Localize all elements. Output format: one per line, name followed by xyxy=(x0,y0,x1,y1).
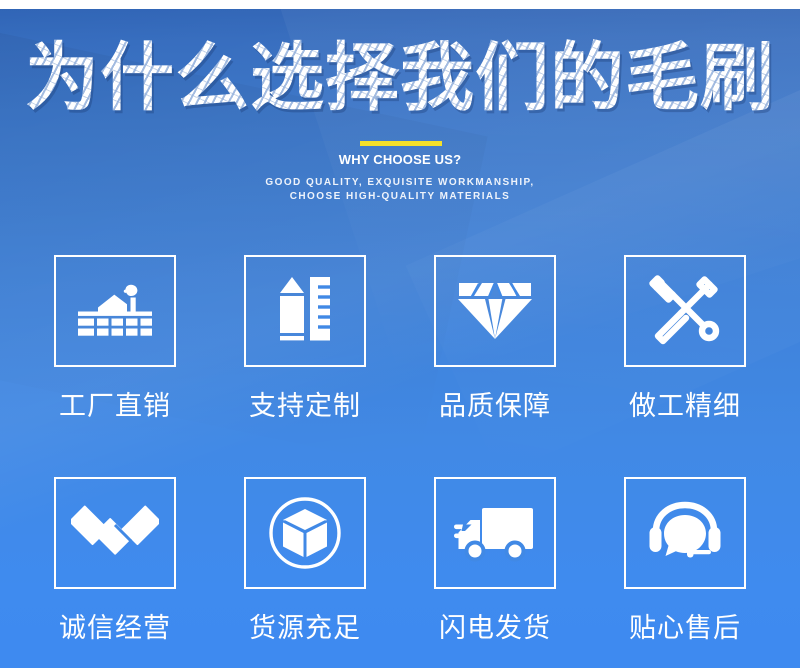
icon-frame xyxy=(624,477,746,589)
page-title: 为什么选择我们的毛刷 xyxy=(25,36,775,120)
factory-icon xyxy=(76,280,154,342)
feature-label: 支持定制 xyxy=(249,392,361,422)
accent-divider xyxy=(360,141,442,146)
headset-support-icon xyxy=(646,497,724,569)
feature-cell-custom-orders: 支持定制 xyxy=(210,255,400,477)
pencil-ruler-icon xyxy=(274,275,336,347)
feature-label: 品质保障 xyxy=(439,392,551,422)
feature-cell-factory-direct-sales: 工厂直销 xyxy=(20,255,210,477)
icon-frame xyxy=(54,255,176,367)
icon-frame xyxy=(624,255,746,367)
tagline-line-1: GOOD QUALITY, EXQUISITE WORKMANSHIP, xyxy=(0,176,800,190)
tagline: GOOD QUALITY, EXQUISITE WORKMANSHIP, CHO… xyxy=(0,176,800,204)
icon-frame xyxy=(54,477,176,589)
feature-cell-integrity-business: 诚信经营 xyxy=(20,477,210,668)
icon-frame xyxy=(244,255,366,367)
feature-cell-after-sales-support: 贴心售后 xyxy=(590,477,780,668)
diamond-icon xyxy=(455,279,535,343)
delivery-truck-icon xyxy=(453,502,537,564)
feature-label: 贴心售后 xyxy=(629,614,741,644)
subtitle-english: WHY CHOOSE US? xyxy=(0,152,800,167)
headline-wrapper: 为什么选择我们的毛刷 xyxy=(0,36,800,120)
why-choose-us-banner: 为什么选择我们的毛刷 WHY CHOOSE US? GOOD QUALITY, … xyxy=(0,0,800,668)
page-title-text: 为什么选择我们的毛刷 xyxy=(25,35,775,121)
feature-cell-quality-guarantee: 品质保障 xyxy=(400,255,590,477)
feature-label: 诚信经营 xyxy=(59,614,171,644)
feature-label: 工厂直销 xyxy=(59,392,171,422)
feature-label: 货源充足 xyxy=(249,614,361,644)
tools-icon xyxy=(648,274,722,348)
feature-cell-fast-shipping: 闪电发货 xyxy=(400,477,590,668)
feature-cell-fine-workmanship: 做工精细 xyxy=(590,255,780,477)
icon-frame xyxy=(244,477,366,589)
feature-label: 闪电发货 xyxy=(439,614,551,644)
feature-label: 做工精细 xyxy=(629,392,741,422)
top-white-strip xyxy=(0,0,800,9)
feature-grid: 工厂直销 xyxy=(0,255,800,668)
icon-frame xyxy=(434,255,556,367)
handshake-icon xyxy=(71,501,159,565)
feature-cell-ample-supply: 货源充足 xyxy=(210,477,400,668)
package-box-icon xyxy=(266,494,344,572)
icon-frame xyxy=(434,477,556,589)
tagline-line-2: CHOOSE HIGH-QUALITY MATERIALS xyxy=(0,190,800,204)
